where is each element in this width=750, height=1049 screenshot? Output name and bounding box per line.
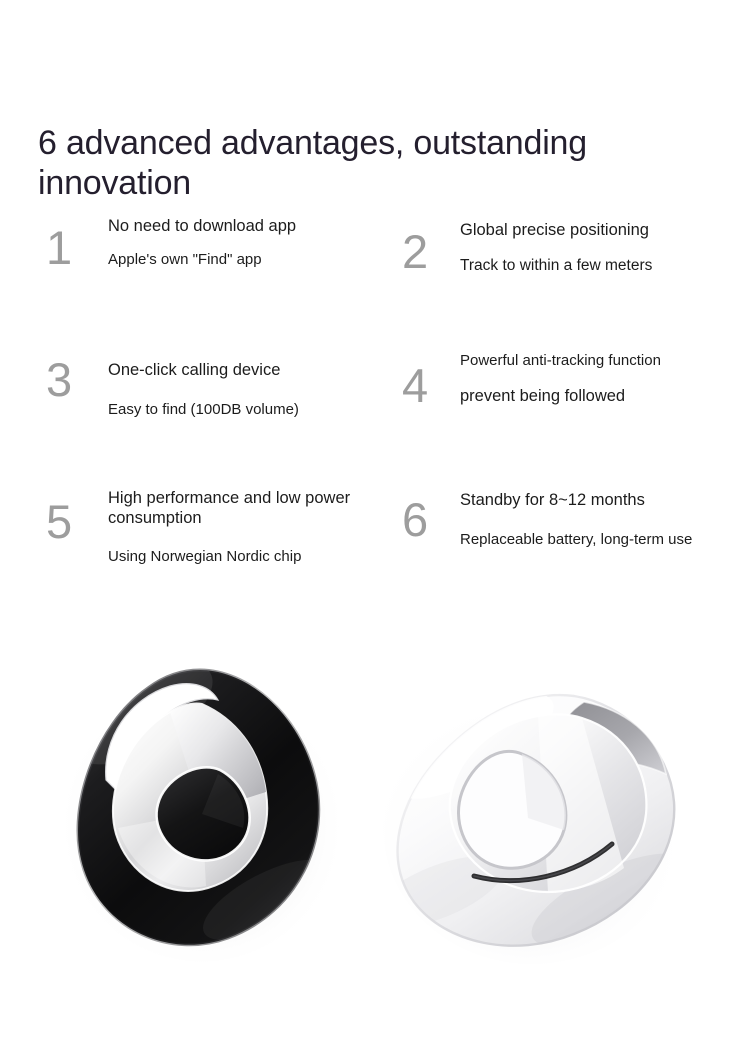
- feature-item-6: 6 Standby for 8~12 months Replaceable ba…: [402, 488, 732, 608]
- page-title: 6 advanced advantages, outstanding innov…: [38, 123, 718, 203]
- feature-number: 2: [402, 226, 458, 278]
- feature-subtext: Track to within a few meters: [460, 256, 728, 275]
- feature-text-block: High performance and low power consumpti…: [108, 488, 376, 566]
- feature-text-block: Global precise positioning Track to with…: [460, 220, 728, 275]
- feature-item-4: 4 Powerful anti-tracking function preven…: [402, 352, 732, 472]
- feature-number: 3: [46, 354, 102, 406]
- feature-subtext: Replaceable battery, long-term use: [460, 530, 728, 549]
- feature-list: 1 No need to download app Apple's own "F…: [0, 216, 750, 616]
- feature-item-1: 1 No need to download app Apple's own "F…: [46, 216, 376, 336]
- black-device-button: [157, 767, 250, 860]
- feature-headline: Global precise positioning: [460, 220, 728, 240]
- feature-item-2: 2 Global precise positioning Track to wi…: [402, 216, 732, 336]
- feature-headline: No need to download app: [108, 216, 376, 236]
- feature-text-block: No need to download app Apple's own "Fin…: [108, 216, 376, 269]
- feature-text-block: Standby for 8~12 months Replaceable batt…: [460, 490, 728, 549]
- feature-subtext: prevent being followed: [460, 387, 728, 406]
- feature-headline: One-click calling device: [108, 360, 376, 380]
- feature-text-block: Powerful anti-tracking function prevent …: [460, 352, 728, 406]
- product-image-white-key-finder: [378, 678, 688, 968]
- product-image-black-key-finder: [52, 662, 352, 962]
- feature-number: 5: [46, 496, 102, 548]
- feature-number: 1: [46, 222, 102, 274]
- feature-subtext: Using Norwegian Nordic chip: [108, 547, 376, 566]
- feature-headline: Powerful anti-tracking function: [460, 352, 728, 370]
- feature-text-block: One-click calling device Easy to find (1…: [108, 360, 376, 419]
- feature-headline: Standby for 8~12 months: [460, 490, 728, 510]
- product-gallery: [0, 630, 750, 1030]
- feature-headline: High performance and low power consumpti…: [108, 488, 376, 528]
- feature-item-5: 5 High performance and low power consump…: [46, 488, 376, 608]
- feature-subtext: Apple's own "Find" app: [108, 250, 376, 269]
- feature-subtext: Easy to find (100DB volume): [108, 400, 376, 419]
- feature-number: 6: [402, 494, 458, 546]
- feature-item-3: 3 One-click calling device Easy to find …: [46, 352, 376, 472]
- feature-number: 4: [402, 360, 458, 412]
